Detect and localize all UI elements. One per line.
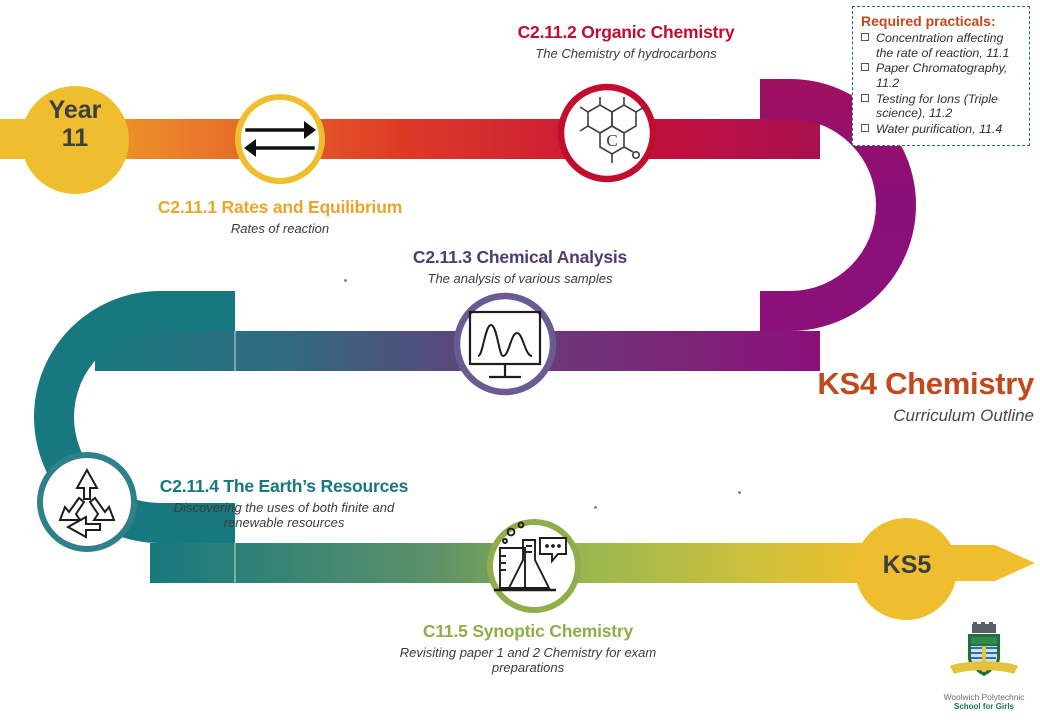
page-title-main: KS4 Chemistry <box>634 366 1034 402</box>
practical-item: Water purification, 11.4 <box>861 122 1021 137</box>
topic-title: C2.11.2 Organic Chemistry <box>476 22 776 43</box>
school-name-line1: Woolwich Polytechnic <box>930 692 1038 702</box>
node-c2-11-2[interactable]: C <box>561 87 653 179</box>
checkbox-icon[interactable] <box>861 63 869 71</box>
checkbox-icon[interactable] <box>861 94 869 102</box>
topic-label-c2-11-3: C2.11.3 Chemical Analysis The analysis o… <box>370 247 670 286</box>
practical-text: Testing for Ions (Triple science), 11.2 <box>876 92 998 121</box>
node-c2-11-4[interactable] <box>40 455 134 549</box>
topic-subtitle: Discovering the uses of both finite and … <box>148 500 420 531</box>
practical-text: Concentration affecting the rate of reac… <box>876 31 1009 60</box>
school-logo: Woolwich Polytechnic School for Girls <box>930 620 1038 716</box>
required-practicals-box: Required practicals: Concentration affec… <box>852 6 1030 146</box>
topic-label-c2-11-2: C2.11.2 Organic Chemistry The Chemistry … <box>476 22 776 61</box>
topic-subtitle: The Chemistry of hydrocarbons <box>476 46 776 61</box>
topic-label-c11-5: C11.5 Synoptic Chemistry Revisiting pape… <box>386 621 670 675</box>
curriculum-diagram: C <box>0 0 1040 720</box>
topic-subtitle: Rates of reaction <box>134 221 426 236</box>
checkbox-icon[interactable] <box>861 33 869 41</box>
page-title: KS4 Chemistry Curriculum Outline <box>634 366 1034 426</box>
topic-subtitle: Revisiting paper 1 and 2 Chemistry for e… <box>386 645 670 676</box>
practical-text: Water purification, 11.4 <box>876 122 1002 136</box>
school-name-line2: School for Girls <box>930 702 1038 711</box>
topic-label-c2-11-1: C2.11.1 Rates and Equilibrium Rates of r… <box>134 197 426 236</box>
required-practicals-list: Concentration affecting the rate of reac… <box>861 31 1021 136</box>
decorative-dot <box>344 279 347 282</box>
year-11-label: Year 11 <box>22 96 128 152</box>
topic-label-c2-11-4: C2.11.4 The Earth’s Resources Discoverin… <box>148 476 420 530</box>
decorative-dot <box>594 506 597 509</box>
practical-item: Paper Chromatography, 11.2 <box>861 61 1021 90</box>
svg-text:C: C <box>606 131 617 150</box>
required-practicals-heading: Required practicals: <box>861 13 1021 29</box>
topic-title: C2.11.4 The Earth’s Resources <box>148 476 420 497</box>
school-crest-icon <box>930 620 1038 686</box>
page-title-sub: Curriculum Outline <box>634 406 1034 426</box>
ks5-label: KS5 <box>855 551 959 580</box>
topic-title: C2.11.1 Rates and Equilibrium <box>134 197 426 218</box>
topic-subtitle: The analysis of various samples <box>370 271 670 286</box>
practical-item: Testing for Ions (Triple science), 11.2 <box>861 92 1021 121</box>
checkbox-icon[interactable] <box>861 124 869 132</box>
topic-title: C11.5 Synoptic Chemistry <box>386 621 670 642</box>
decorative-dot <box>738 491 741 494</box>
topic-title: C2.11.3 Chemical Analysis <box>370 247 670 268</box>
node-c2-11-3[interactable] <box>457 296 553 392</box>
practical-item: Concentration affecting the rate of reac… <box>861 31 1021 60</box>
node-c11-5[interactable] <box>490 522 578 610</box>
practical-text: Paper Chromatography, 11.2 <box>876 61 1007 90</box>
node-c2-11-1[interactable] <box>238 97 322 181</box>
